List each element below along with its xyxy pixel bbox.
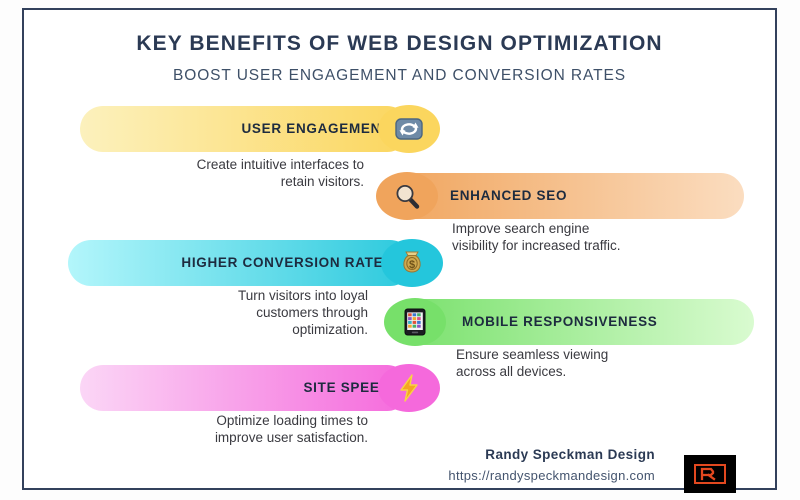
footer-brand: Randy Speckman Design bbox=[485, 447, 655, 462]
benefit-description: Turn visitors into loyal customers throu… bbox=[124, 287, 368, 338]
benefit-label: HIGHER CONVERSION RATES bbox=[68, 240, 393, 286]
benefit-icon-bubble[interactable] bbox=[378, 105, 440, 153]
sync-icon bbox=[394, 114, 424, 144]
benefit-label: USER ENGAGEMENT bbox=[80, 106, 390, 152]
benefit-icon-bubble[interactable]: $ bbox=[381, 239, 443, 287]
benefit-description: Create intuitive interfaces to retain vi… bbox=[120, 156, 364, 190]
benefit-row-mobile-responsiveness: MOBILE RESPONSIVENESS bbox=[362, 299, 762, 345]
benefit-row-higher-conversion-rates: HIGHER CONVERSION RATES $ bbox=[68, 240, 468, 286]
benefit-description: Ensure seamless viewing across all devic… bbox=[456, 346, 746, 380]
footer-url[interactable]: https://randyspeckmandesign.com bbox=[448, 468, 655, 483]
benefit-label: MOBILE RESPONSIVENESS bbox=[462, 299, 754, 345]
benefit-description: Optimize loading times to improve user s… bbox=[110, 412, 368, 446]
benefit-label: SITE SPEED bbox=[80, 365, 390, 411]
money-bag-icon: $ bbox=[397, 248, 427, 278]
benefit-row-user-engagement: USER ENGAGEMENT bbox=[80, 106, 470, 152]
benefit-row-site-speed: SITE SPEED bbox=[80, 365, 480, 411]
page-title: KEY BENEFITS OF WEB DESIGN OPTIMIZATION bbox=[24, 32, 775, 56]
logo-r-icon bbox=[693, 462, 727, 486]
benefit-row-enhanced-seo: ENHANCED SEO bbox=[354, 173, 754, 219]
lightning-icon bbox=[395, 373, 423, 403]
benefit-label: ENHANCED SEO bbox=[450, 173, 740, 219]
benefit-icon-bubble[interactable] bbox=[376, 172, 438, 220]
infographic-canvas: KEY BENEFITS OF WEB DESIGN OPTIMIZATION … bbox=[0, 0, 800, 500]
mobile-icon bbox=[401, 307, 429, 337]
benefit-description: Improve search engine visibility for inc… bbox=[452, 220, 742, 254]
page-subtitle: BOOST USER ENGAGEMENT AND CONVERSION RAT… bbox=[24, 67, 775, 85]
magnifier-icon bbox=[392, 181, 422, 211]
svg-text:$: $ bbox=[409, 259, 415, 271]
benefit-icon-bubble[interactable] bbox=[378, 364, 440, 412]
content-frame: KEY BENEFITS OF WEB DESIGN OPTIMIZATION … bbox=[22, 8, 777, 490]
benefit-icon-bubble[interactable] bbox=[384, 298, 446, 346]
brand-logo bbox=[684, 455, 736, 493]
